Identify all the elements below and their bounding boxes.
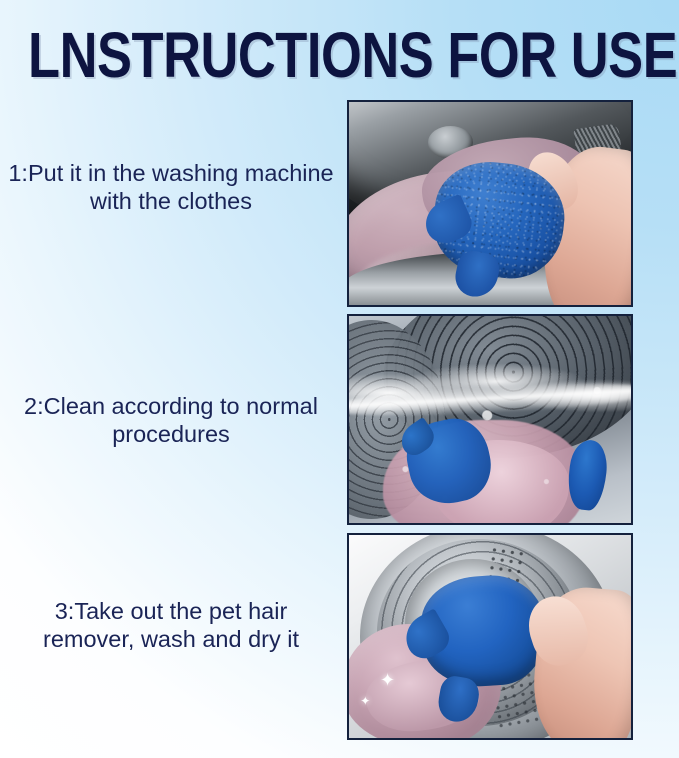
sparkle-icon: ✦	[360, 692, 370, 710]
sparkle-icon: ✦	[380, 671, 395, 689]
instructions-infographic: LNSTRUCTIONS FOR USE 1:Put it in the was…	[0, 0, 679, 758]
step-1-text: 1:Put it in the washing machine with the…	[6, 159, 336, 215]
step-1-photo	[347, 100, 633, 307]
step-3-text: 3:Take out the pet hair remover, wash an…	[6, 597, 336, 653]
page-title: LNSTRUCTIONS FOR USE	[28, 22, 543, 91]
step-2-text: 2:Clean according to normal procedures	[6, 392, 336, 448]
step-2-photo	[347, 314, 633, 525]
step-3-photo: ✦ ✦	[347, 533, 633, 740]
